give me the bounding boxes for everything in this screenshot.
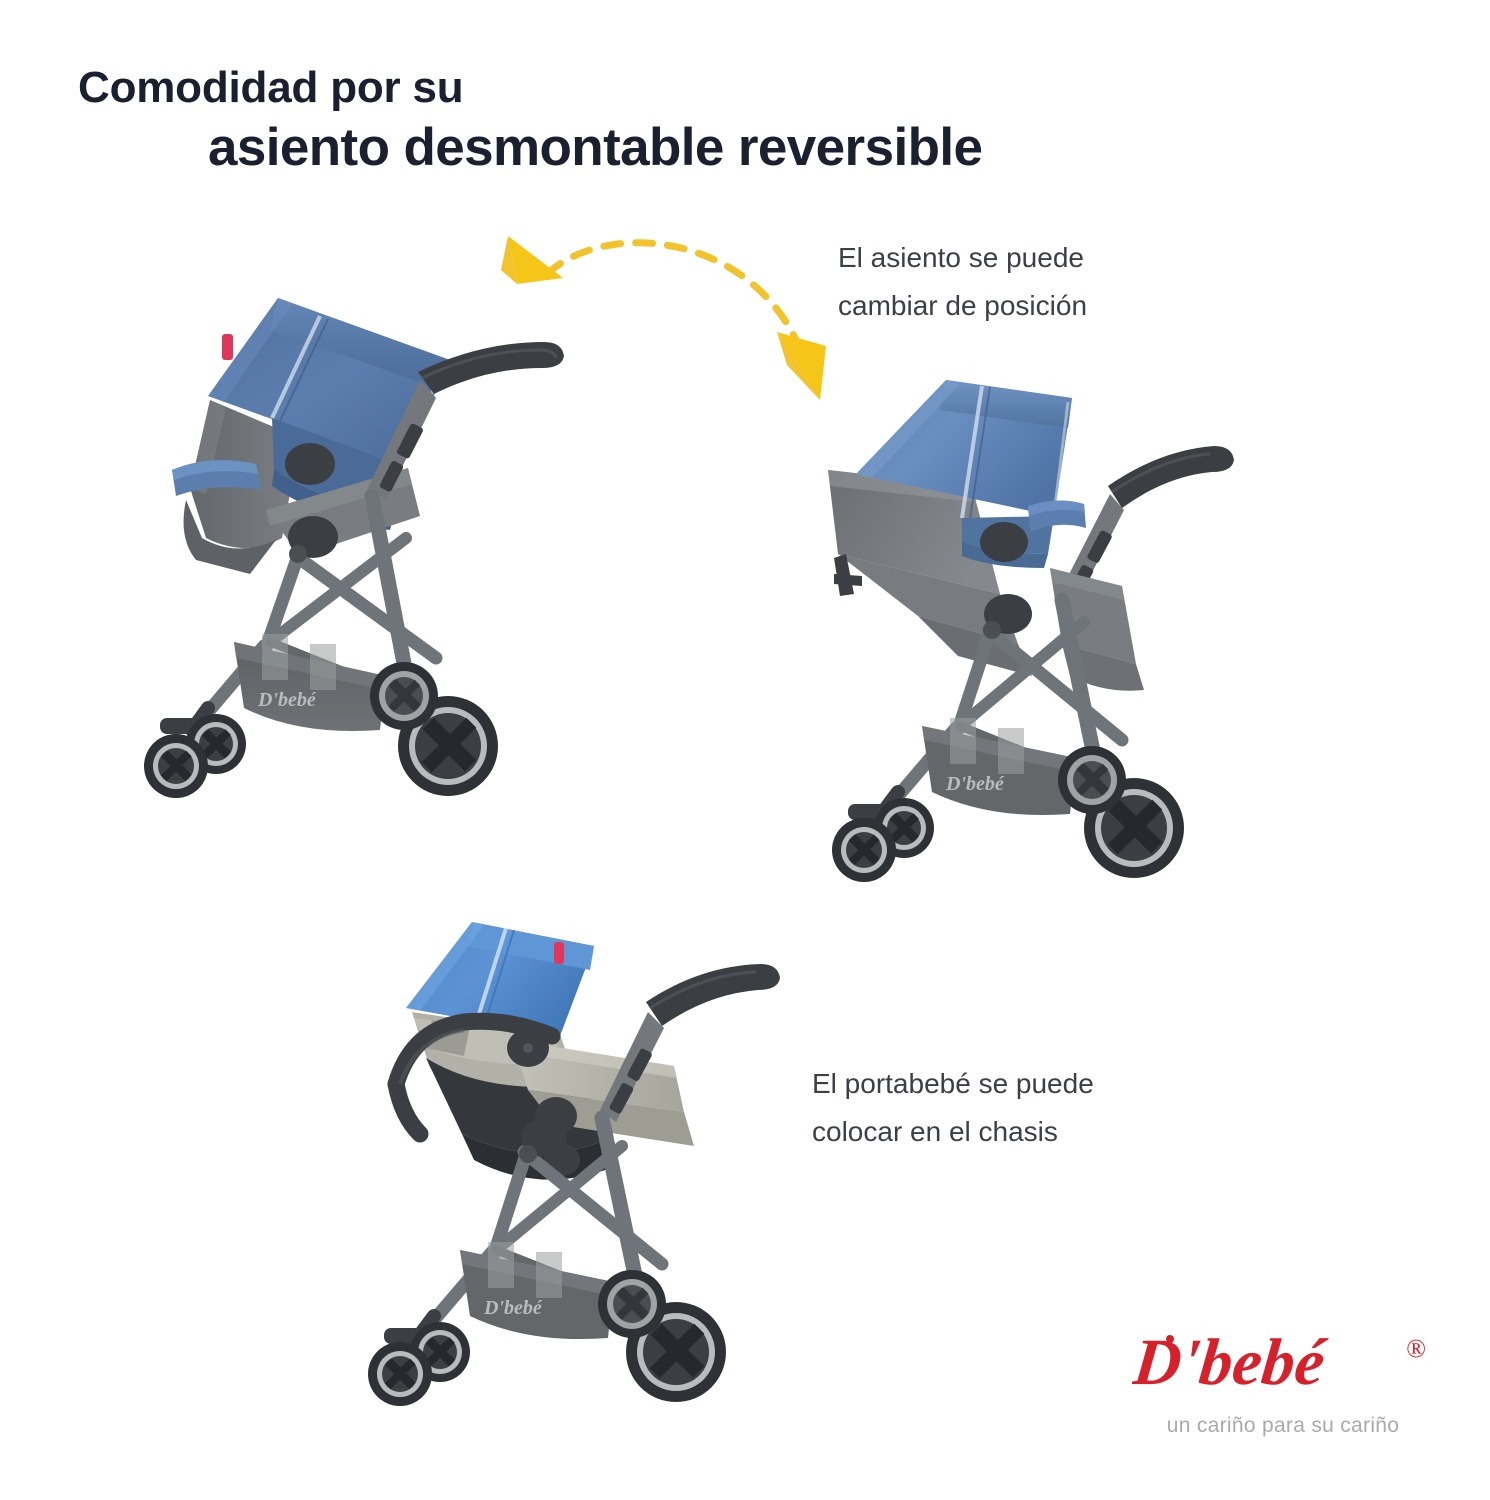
brand-tagline: un cariño para su cariño [1138,1414,1428,1438]
logo-accent-dot [1166,1335,1174,1343]
front-wheel-assembly [144,708,246,798]
page-title: Comodidad por su asiento desmontable rev… [78,62,982,178]
brand-tag [554,942,564,964]
front-wheel-assembly [832,792,934,882]
page-title-line-1: Comodidad por su [78,62,982,114]
storage-basket: D'bebé [922,718,1076,815]
bumper-bar [1028,500,1086,532]
annotation-seat-position: El asiento se puede cambiar de posición [838,234,1087,330]
page-title-line-2: asiento desmontable reversible [208,118,982,178]
brand-tag [222,334,233,360]
basket-logo: D'bebé [945,773,1005,795]
storage-basket: D'bebé [460,1242,614,1339]
basket-logo: D'bebé [483,1297,543,1319]
storage-basket: D'bebé [234,634,386,731]
annotation-carrier-chassis: El portabebé se puede colocar en el chas… [812,1060,1094,1156]
stroller-seat-forward-facing: D'bebé [150,238,580,808]
infant-carrier-on-chassis: D'bebé [378,898,798,1408]
stroller-seat-reverse-facing: D'bebé [822,358,1242,898]
brand-wordmark: D'bebé ® [1132,1322,1432,1402]
brand-logo: D'bebé ® un cariño para su cariño [1132,1322,1432,1440]
annotation-carrier-line-2: colocar en el chasis [812,1108,1094,1156]
brand-wordmark-text: D'bebé [1132,1326,1331,1399]
infographic-canvas: Comodidad por su asiento desmontable rev… [0,0,1490,1500]
registered-trademark-symbol: ® [1406,1334,1426,1364]
annotation-carrier-line-1: El portabebé se puede [812,1060,1094,1108]
rear-wheel-far-side [598,1270,666,1338]
rear-wheel-far-side [370,662,438,730]
handlebar [600,964,780,1122]
rear-wheel-far-side [1058,746,1126,814]
annotation-seat-line-1: El asiento se puede [838,234,1087,282]
basket-logo: D'bebé [257,689,317,711]
annotation-seat-line-2: cambiar de posición [838,282,1087,330]
front-wheel-assembly [368,1316,470,1406]
